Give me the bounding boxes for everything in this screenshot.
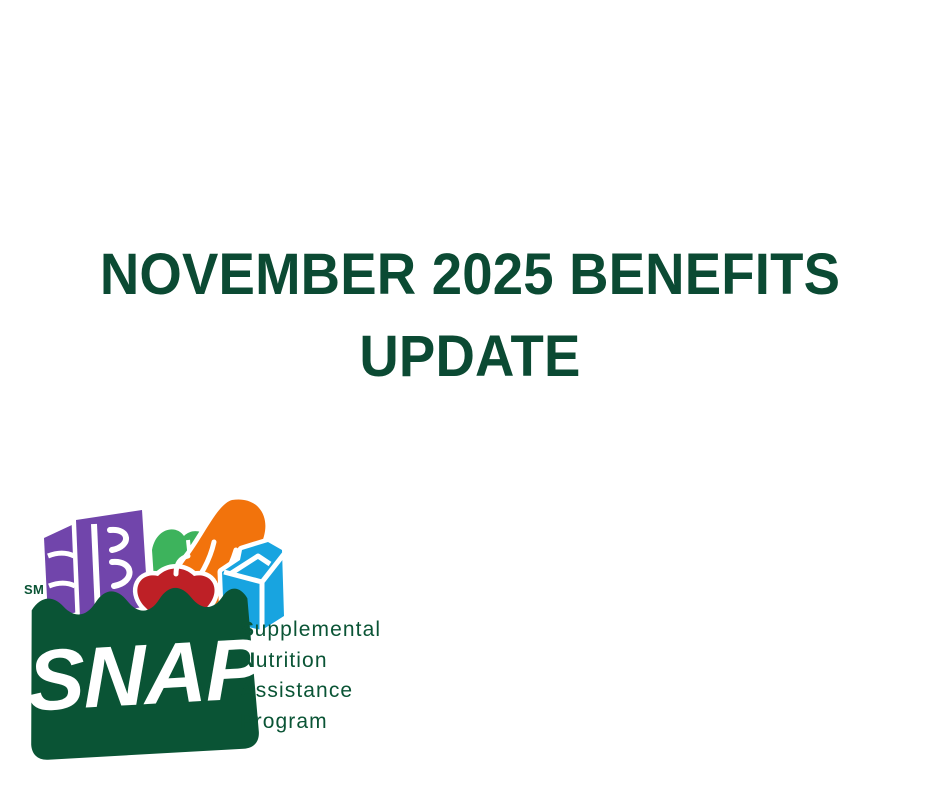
tagline-initial-a: A [240, 679, 256, 702]
service-mark-label: SM [24, 583, 44, 597]
page-title: NOVEMBER 2025 BENEFITS UPDATE [0, 234, 940, 398]
tagline-initial-s: S [240, 618, 255, 641]
slide-canvas: NOVEMBER 2025 BENEFITS UPDATE [0, 0, 940, 788]
tagline-row-nutrition: Nutrition [240, 646, 470, 677]
tagline-rest-nutrition: utrition [256, 649, 328, 672]
tagline-rest-program: rogram [255, 710, 328, 733]
snap-tagline: Supplemental Nutrition Assistance Progra… [240, 615, 470, 737]
tagline-row-assistance: Assistance [240, 676, 470, 707]
title-line-2: UPDATE [28, 316, 912, 398]
tagline-initial-p: P [240, 710, 255, 733]
tagline-rest-supplemental: upplemental [255, 618, 382, 641]
title-line-1: NOVEMBER 2025 BENEFITS [28, 234, 912, 316]
tagline-rest-assistance: ssistance [256, 679, 353, 702]
tagline-initial-n: N [240, 649, 256, 672]
snap-wordmark: SNAP [26, 621, 264, 730]
tagline-row-supplemental: Supplemental [240, 615, 470, 646]
tagline-row-program: Program [240, 707, 470, 738]
